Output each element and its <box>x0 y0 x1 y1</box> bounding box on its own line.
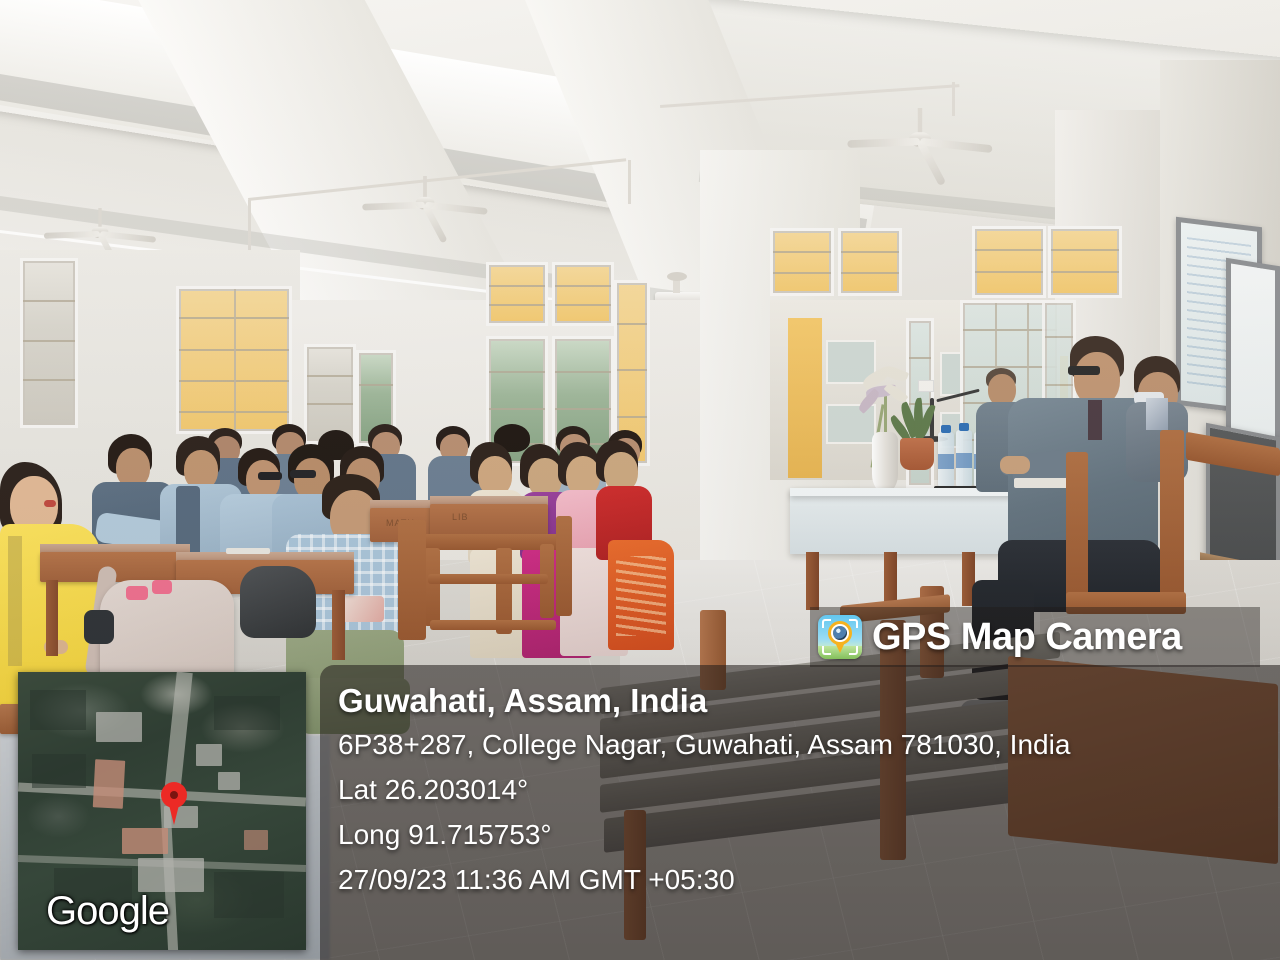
map-building <box>138 858 204 892</box>
map-building <box>244 830 268 850</box>
map-building <box>218 772 240 790</box>
location-address-line: 6P38+287, College Nagar, Guwahati, Assam… <box>338 723 1280 766</box>
map-thumbnail[interactable]: Google <box>18 672 306 950</box>
map-block <box>214 696 280 730</box>
app-name-label: GPS Map Camera <box>872 618 1182 656</box>
map-block <box>32 754 86 788</box>
latitude-line: Lat 26.203014° <box>338 767 1280 812</box>
map-block <box>30 690 86 730</box>
screenshot-root: MATH LIB <box>0 0 1280 960</box>
map-building <box>196 744 222 766</box>
gps-camera-app-icon <box>818 615 862 659</box>
map-building <box>164 806 198 828</box>
location-pin-icon <box>161 782 187 808</box>
longitude-line: Long 91.715753° <box>338 812 1280 857</box>
location-city-line: Guwahati, Assam, India <box>338 679 1280 723</box>
map-building <box>93 759 125 809</box>
gps-info-panel: Guwahati, Assam, India 6P38+287, College… <box>320 665 1280 960</box>
map-block <box>214 872 284 918</box>
gps-map-camera-branding: GPS Map Camera <box>810 607 1260 667</box>
timestamp-line: 27/09/23 11:36 AM GMT +05:30 <box>338 857 1280 902</box>
map-building <box>122 828 168 854</box>
map-building <box>96 712 142 742</box>
google-watermark: Google <box>46 889 169 934</box>
